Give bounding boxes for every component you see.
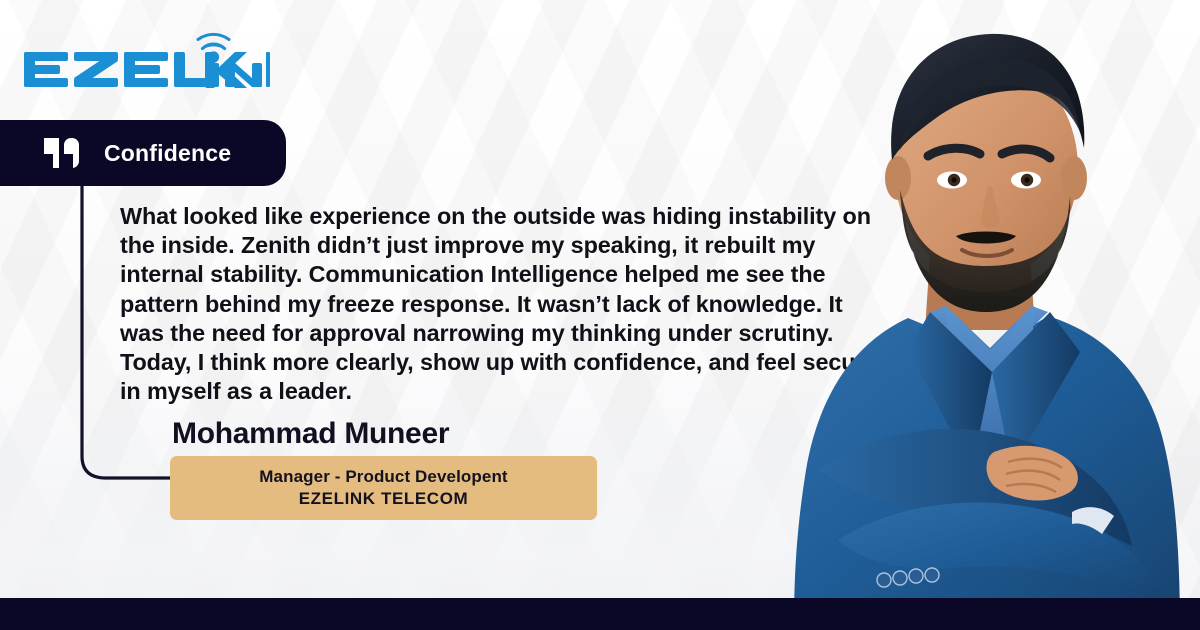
- portrait-illustration: [780, 0, 1200, 630]
- testimonial-card: Confidence What looked like experience o…: [0, 0, 1200, 630]
- badge-label: Confidence: [104, 140, 231, 167]
- author-role: Manager - Product Developent: [259, 467, 507, 487]
- logo-letter-k: [205, 52, 253, 100]
- author-company: EZELINK TELECOM: [299, 489, 469, 509]
- author-portrait: [780, 0, 1200, 630]
- category-badge[interactable]: Confidence: [0, 120, 286, 186]
- bottom-bar: [0, 598, 1200, 630]
- quote-mark-icon: [44, 138, 82, 168]
- wifi-signal-icon: [198, 34, 229, 48]
- author-role-box: Manager - Product Developent EZELINK TEL…: [170, 456, 597, 520]
- testimonial-quote: What looked like experience on the outsi…: [120, 202, 880, 406]
- author-name: Mohammad Muneer: [172, 417, 449, 451]
